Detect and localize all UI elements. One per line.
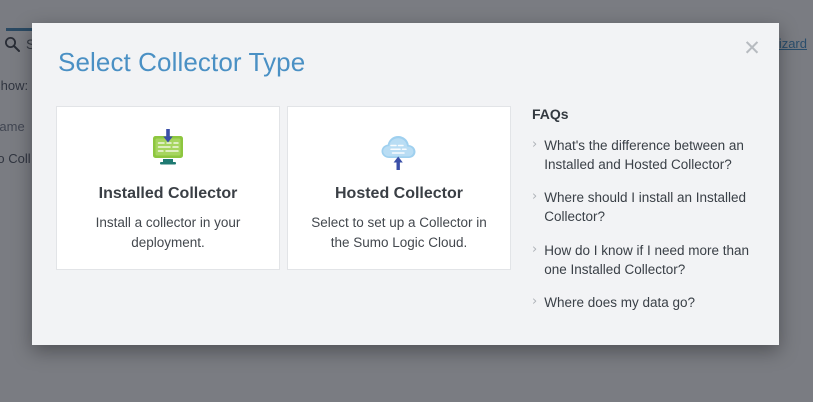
chevron-right-icon: › bbox=[532, 293, 537, 310]
option-installed-collector[interactable]: Installed Collector Install a collector … bbox=[56, 106, 280, 270]
collector-type-options: Installed Collector Install a collector … bbox=[56, 106, 511, 270]
close-icon[interactable]: ✕ bbox=[739, 35, 765, 61]
faq-item[interactable]: › How do I know if I need more than one … bbox=[532, 241, 757, 279]
faq-item-label: How do I know if I need more than one In… bbox=[544, 241, 757, 279]
hosted-collector-icon bbox=[373, 129, 425, 173]
faq-item[interactable]: › What's the difference between an Insta… bbox=[532, 136, 757, 174]
faq-item-label: Where should I install an Installed Coll… bbox=[544, 188, 757, 226]
faq-panel: FAQs › What's the difference between an … bbox=[532, 106, 757, 326]
faq-heading: FAQs bbox=[532, 106, 757, 122]
chevron-right-icon: › bbox=[532, 188, 537, 205]
option-description: Select to set up a Collector in the Sumo… bbox=[309, 213, 489, 252]
option-title: Hosted Collector bbox=[335, 185, 463, 203]
screen: Collection Status Se Show: Name No Coll … bbox=[0, 0, 813, 402]
option-title: Installed Collector bbox=[99, 185, 238, 203]
chevron-right-icon: › bbox=[532, 241, 537, 258]
faq-item-label: Where does my data go? bbox=[544, 293, 695, 312]
select-collector-type-dialog: ✕ Select Collector Type bbox=[32, 23, 779, 345]
faq-item-label: What's the difference between an Install… bbox=[544, 136, 757, 174]
chevron-right-icon: › bbox=[532, 136, 537, 153]
option-hosted-collector[interactable]: Hosted Collector Select to set up a Coll… bbox=[287, 106, 511, 270]
option-description: Install a collector in your deployment. bbox=[78, 213, 258, 252]
faq-item[interactable]: › Where should I install an Installed Co… bbox=[532, 188, 757, 226]
dialog-title: Select Collector Type bbox=[58, 47, 305, 78]
faq-item[interactable]: › Where does my data go? bbox=[532, 293, 757, 312]
installed-collector-icon bbox=[142, 129, 194, 173]
